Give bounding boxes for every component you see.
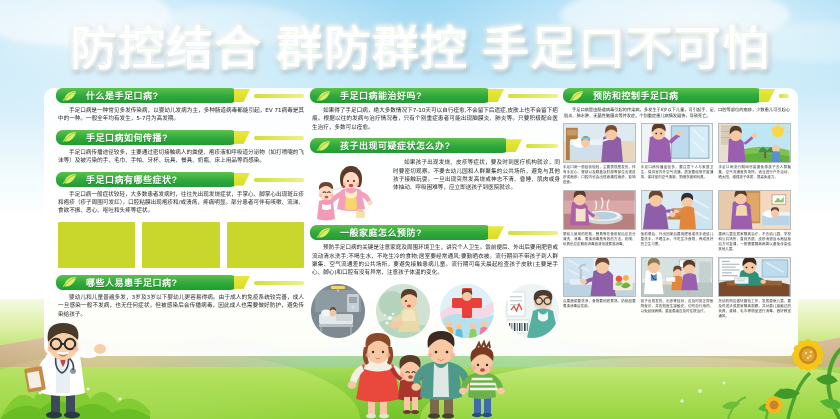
washing-vegetables-and-fruits-image <box>563 257 636 297</box>
boiling-water-disinfecting-tableware-image <box>563 190 636 230</box>
doctor-consulting-child-and-parent-image: 门诊 <box>641 257 714 297</box>
panel-cell: 患病儿童应居家隔离治疗，不去幼儿园、学校和公共场所，直到热退、皮疹消退及水疱结痂… <box>718 190 791 252</box>
leaf-icon <box>62 131 78 143</box>
title-part-1: 防控结合 <box>70 22 262 77</box>
content-panel: 什么是手足口病? 手足口病是一种常见多发传染病，以婴幼儿发病为主，多种肠道病毒都… <box>44 88 798 356</box>
symptom-photo-row <box>58 222 304 268</box>
mother-child-illustration-block: 如果孩子出现发烧、皮疹等症状，要及时到医疗机构就诊，同时要密切观察。不要去幼儿园… <box>310 157 560 219</box>
sick-child-isolated-at-home-image <box>718 190 791 230</box>
left-column: 什么是手足口病? 手足口病是一种常见多发传染病，以婴幼儿发病为主，多种肠道病毒都… <box>56 88 306 325</box>
symptom-photo-1 <box>58 222 135 268</box>
mother-washing-childs-hands-image <box>641 190 714 230</box>
right-column-intro: 手足口病是由肠道病毒引起的传染病，多发生于5岁以下儿童，可引起手、足、口腔等部位… <box>564 107 790 119</box>
section-header-curable: 手足口病能治好吗? <box>310 88 560 103</box>
handwashing-icon <box>376 284 430 338</box>
section-header-family-prevention: 一般家庭怎么预防? <box>310 225 560 240</box>
symptom-photo-2 <box>142 222 219 268</box>
section-header-label: 孩子出现可疑症状怎么办? <box>340 139 451 152</box>
panel-caption: 孩子出现发热、出疹等症状，应及时到正规医院就诊，并告知医生接触史。切勿自行用药，… <box>641 299 714 314</box>
title-part-2: 群防群控 <box>276 22 468 77</box>
panel-cell: 婴幼儿使用的奶瓶、餐具等在使用前后应充分清洗、消毒，煮沸消毒是有效的方法。奶嘴、… <box>563 190 636 252</box>
boy-figure <box>459 342 505 417</box>
child-playing-outdoors-sunshine-image <box>718 123 791 163</box>
section-body-what-is: 手足口病是一种常见多发传染病，以婴幼儿发病为主，多种肠道病毒都能引起，EV 71… <box>58 107 304 124</box>
leaf-icon <box>569 90 585 102</box>
section-header-label: 手足口病有哪些症状? <box>86 173 178 186</box>
section-header-suspicious-symptoms: 孩子出现可疑症状怎么办? <box>310 138 560 153</box>
section-header-transmission: 手足口病如何传播? <box>56 130 306 145</box>
section-header-label: 手足口病能治好吗? <box>340 89 422 102</box>
section-body-suspicious-symptoms: 如果孩子出现发烧、皮疹等症状，要及时到医疗机构就诊，同时要密切观察。不要去幼儿园… <box>393 157 560 219</box>
panel-cell: 瓜果蔬菜要洗净，食物要彻底煮熟。奶制品要煮沸消毒后饮用。 <box>563 257 636 319</box>
leaf-icon <box>316 90 332 102</box>
panel-cell: 手足口病一般症状较轻，主要表现是发热，伴有手足心、臀部以及膝盖及肘部等部位出现皮… <box>563 123 636 185</box>
section-header-label: 一般家庭怎么预防? <box>340 226 422 239</box>
panel-cell: 手足口病传播途径多，要注意个人与家庭卫生，保持室内外空气流通。居室要经常开窗通风… <box>641 123 714 185</box>
poster-title: 防控结合群防群控手足口不可怕 <box>0 24 840 76</box>
section-header-label: 预防和控制手足口病 <box>593 89 679 102</box>
poster-canvas: 防控结合群防群控手足口不可怕 <box>0 0 840 419</box>
leaf-icon <box>316 227 332 239</box>
section-body-family-prevention: 预防手足口病的关键是注意家庭及周围环境卫生，讲究个人卫生。饭前便后、外出后要用肥… <box>312 244 558 278</box>
doctor-checkup-icon <box>505 284 559 338</box>
panel-cell: 手足口病流行期间尽量避免带孩子去人群聚集、空气流通差的场所。适当进行户外活动，晒… <box>718 123 791 185</box>
section-header-what-is: 什么是手足口病? <box>56 88 306 103</box>
leaf-icon <box>62 90 78 102</box>
section-header-who-at-risk: 哪些人易患手足口病? <box>56 275 306 290</box>
woman-opening-window-ventilation-image <box>641 123 714 163</box>
teacher-classroom-morning-check-image <box>718 257 791 297</box>
middle-column: 手足口病能治好吗? 如果得了手足口病，绝大多数情况下7-10天可以自行痊愈,不会… <box>310 88 560 338</box>
panel-cell: 门诊 <box>641 257 714 319</box>
panel-caption: 手足口病传播途径多，要注意个人与家庭卫生，保持室内外空气流通。居室要经常开窗通风… <box>641 165 714 180</box>
panel-caption: 手足口病一般症状较轻，主要表现是发热，伴有手足心、臀部以及膝盖及肘部等部位出现皮… <box>563 165 636 185</box>
section-body-transmission: 手足口病传播途径较多，主要通过密切接触病人的粪便、疱疹液和呼吸道分泌物（如打喷嚏… <box>58 149 304 166</box>
section-header-label: 什么是手足口病? <box>86 89 159 102</box>
right-column: 预防和控制手足口病 手足口病是由肠道病毒引起的传染病，多发生于5岁以下儿童，可引… <box>563 88 791 319</box>
panel-cell: 托幼机构应做好晨检工作，发现患病儿童，要及时送诊或居家隔离观察，并对患儿接触过的… <box>718 257 791 319</box>
father-figure <box>411 331 471 419</box>
section-header-label: 哪些人易患手足口病? <box>86 276 178 289</box>
prevention-panel-grid: 手足口病一般症状较轻，主要表现是发热，伴有手足心、臀部以及膝盖及肘部等部位出现皮… <box>563 123 791 319</box>
panel-caption: 饭前便后、外出回家后要用肥皂或洗手液给儿童洗手，不喝生水、不吃生冷食物，养成良好… <box>641 232 714 247</box>
panel-caption: 手足口病流行期间尽量避免带孩子去人群聚集、空气流通差的场所。适当进行户外活动，晒… <box>718 165 791 180</box>
panel-cell: 饭前便后、外出回家后要用肥皂或洗手液给儿童洗手，不喝生水、不吃生冷食物，养成良好… <box>641 190 714 252</box>
family-of-four-illustration <box>296 339 566 419</box>
section-header-symptoms: 手足口病有哪些症状? <box>56 172 306 187</box>
mother-checking-child-fever-illustration <box>310 157 388 219</box>
sunflowers-illustration <box>670 339 840 419</box>
symptom-photo-3 <box>227 222 304 268</box>
panel-caption: 瓜果蔬菜要洗净，食物要彻底煮熟。奶制品要煮沸消毒后饮用。 <box>563 299 636 309</box>
section-body-who-at-risk: 婴幼儿和儿童普遍多发，3岁及3岁以下婴幼儿更容易得病。由于成人的免疫系统较完善，… <box>58 294 304 319</box>
panel-caption: 托幼机构应做好晨检工作，发现患病儿童，要及时送诊或居家隔离观察，并对患儿接触过的… <box>718 299 791 319</box>
panel-caption: 婴幼儿使用的奶瓶、餐具等在使用前后应充分清洗、消毒，煮沸消毒是有效的方法。奶嘴、… <box>563 232 636 247</box>
child-with-fever-in-bed-image <box>563 123 636 163</box>
section-body-symptoms: 手足口病一般症状较轻，大多数患者发病时，往往先出现发烧症状，手掌心、脚掌心出现斑… <box>58 191 304 216</box>
section-body-curable: 如果得了手足口病，绝大多数情况下7-10天可以自行痊愈,不会留下后遗症,皮肤上也… <box>312 107 558 132</box>
section-header-prevention-control: 预防和控制手足口病 <box>563 88 791 103</box>
panel-caption: 患病儿童应居家隔离治疗，不去幼儿园、学校和公共场所，直到热退、皮疹消退及水疱结痂… <box>718 232 791 252</box>
title-part-3: 手足口不可怕 <box>482 22 770 77</box>
leaf-icon <box>62 276 78 288</box>
leaf-icon <box>62 173 78 185</box>
ventilated-bedroom-icon <box>311 284 365 338</box>
avoid-crowds-hospital-icon <box>440 284 494 338</box>
section-header-label: 手足口病如何传播? <box>86 131 168 144</box>
leaf-icon <box>316 140 332 152</box>
doctor-with-clipboard-illustration <box>18 327 110 419</box>
prevention-icon-row <box>311 284 559 338</box>
